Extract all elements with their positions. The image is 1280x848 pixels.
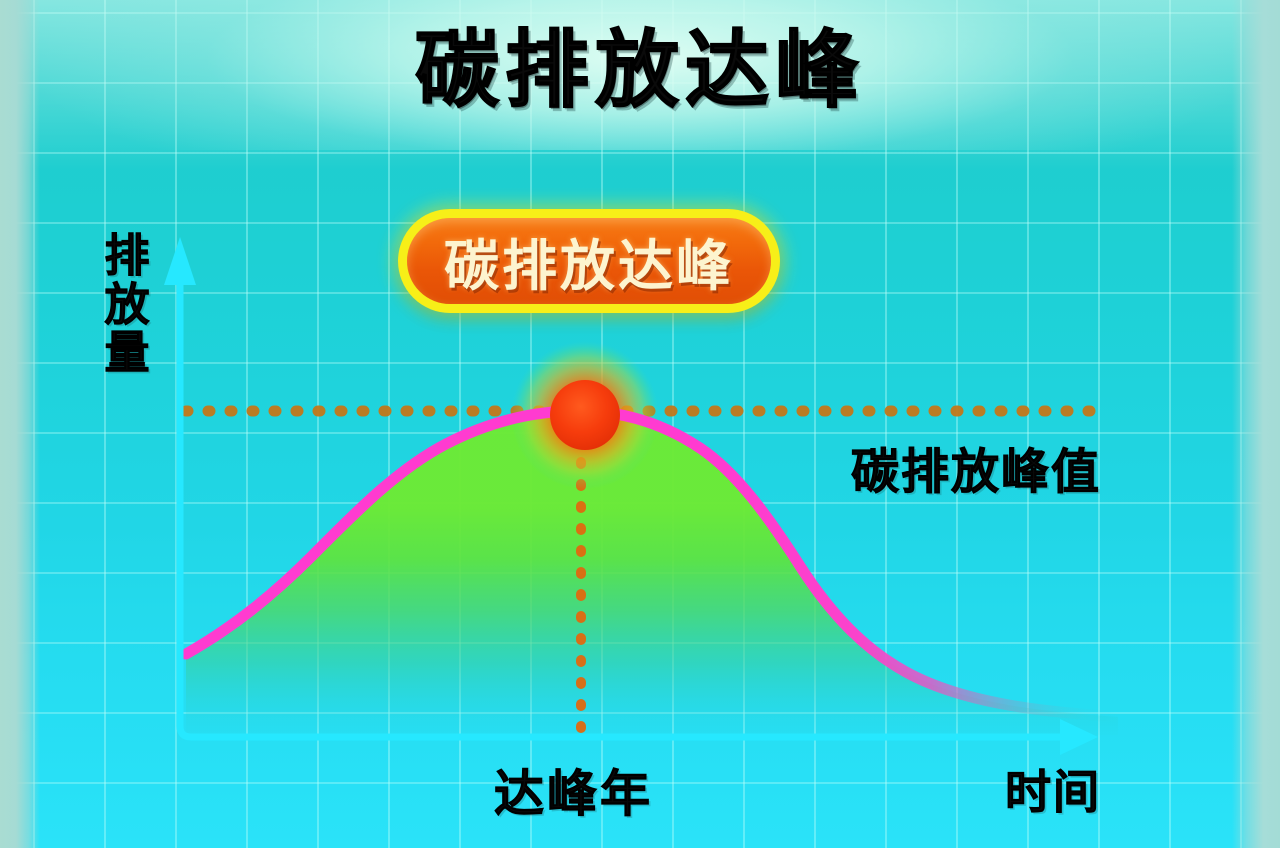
emissions-peak-chart <box>0 0 1280 848</box>
y-axis-arrow-icon <box>164 237 196 285</box>
peak-badge-label: 碳排放达峰 <box>444 221 734 301</box>
left-edge-band <box>0 0 40 848</box>
peak-badge: 碳排放达峰 <box>398 209 780 313</box>
background-top-fade <box>0 0 1280 848</box>
peak-value-label: 碳排放峰值 <box>851 432 1101 502</box>
background-grid <box>0 0 1280 848</box>
y-axis-label-char-2: 放 <box>96 281 158 330</box>
y-axis-label-char-3: 量 <box>96 329 158 378</box>
y-axis-label-char-1: 排 <box>96 232 158 281</box>
right-edge-band <box>1232 0 1280 848</box>
infographic-canvas: 碳排放达峰 碳排放达峰 <box>0 0 1280 848</box>
peak-year-label: 达峰年 <box>494 754 653 826</box>
chart-axes <box>180 284 1070 737</box>
page-title: 碳排放达峰 <box>0 28 1280 112</box>
x-axis-label: 时间 <box>1005 756 1101 822</box>
x-axis-arrow-icon <box>1060 719 1098 755</box>
peak-dot <box>550 380 620 450</box>
peak-glow <box>511 341 659 489</box>
y-axis-label: 排 放 量 <box>96 232 158 378</box>
